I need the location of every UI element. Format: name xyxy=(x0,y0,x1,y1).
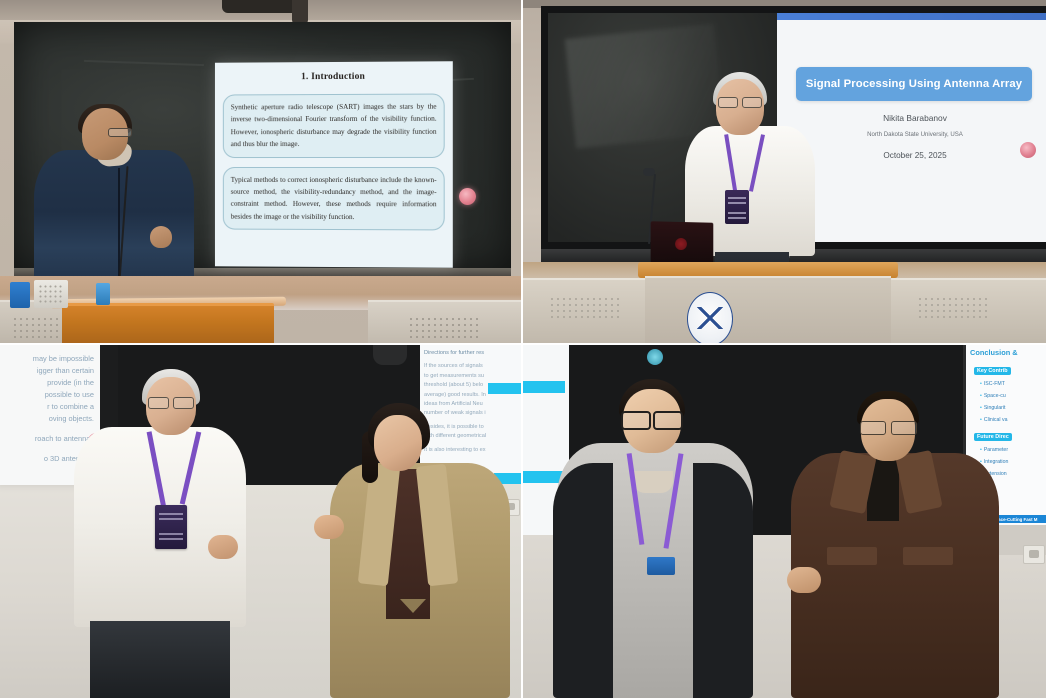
badge-line xyxy=(159,513,183,515)
woman-hand xyxy=(314,515,344,539)
recipient-trousers xyxy=(90,621,230,698)
slide-left-line: may be impossible xyxy=(0,353,94,365)
chalk-mark-2 xyxy=(84,60,204,66)
slide-date: October 25, 2025 xyxy=(777,151,1046,160)
recipient-hand xyxy=(208,535,238,559)
man-hand xyxy=(787,567,821,593)
badge-line xyxy=(159,538,183,540)
desk-speaker-grille-4 xyxy=(917,296,987,322)
slide-affiliation: North Dakota State University, USA xyxy=(777,131,1046,138)
photo-collage: 1. Introduction Synthetic aperture radio… xyxy=(0,0,1046,698)
conference-badge xyxy=(725,190,749,224)
front-desk-right xyxy=(368,300,521,343)
ceiling-fixture-2 xyxy=(292,0,308,24)
glasses-icon xyxy=(108,128,132,137)
indicator-light-icon-2 xyxy=(1020,142,1036,158)
student-author-figure xyxy=(555,379,755,698)
podium-front-panel xyxy=(645,276,891,343)
badge-line xyxy=(728,217,746,219)
slide-section-header-1: Key Contrib xyxy=(974,367,1011,375)
wall-socket-icon-4 xyxy=(1023,545,1045,564)
student-tee-neckline xyxy=(633,471,673,493)
laptop-logo-icon xyxy=(675,238,687,250)
speaker-hand xyxy=(150,226,172,248)
projected-slide-introduction: 1. Introduction Synthetic aperture radio… xyxy=(215,61,453,268)
glasses-icon-4 xyxy=(621,411,683,426)
glasses-icon-3 xyxy=(147,397,195,407)
slide-author: Nikita Barabanov xyxy=(777,113,1046,123)
laptop xyxy=(651,221,714,267)
slide-cyan-accent xyxy=(488,383,521,394)
display-logo-panel xyxy=(373,345,407,365)
glasses-icon-2 xyxy=(717,97,763,106)
front-desk-right-2 xyxy=(891,278,1046,343)
glasses-icon-5 xyxy=(860,421,917,433)
indicator-light-icon xyxy=(459,188,476,205)
jacket-pocket-left xyxy=(827,547,877,565)
conference-badge-3 xyxy=(647,557,675,575)
jacket-pocket-right xyxy=(903,547,953,565)
blue-box-object xyxy=(10,282,30,308)
badge-line xyxy=(159,533,183,535)
badge-line xyxy=(728,197,746,199)
desk-speaker-grille-3 xyxy=(549,296,619,322)
device-grille xyxy=(38,284,64,304)
slide-mid-line: to get measurements su xyxy=(424,372,521,381)
slide-bullet: ISC-FMT xyxy=(980,381,1005,387)
photo-panel-award-speaker: may be impossible igger than certain pro… xyxy=(0,345,521,698)
slide-mid-line: If the sources of signals xyxy=(424,362,521,371)
photo-panel-keynote-title: Signal Processing Using Antenna Array Ni… xyxy=(523,0,1046,343)
award-recipient-figure xyxy=(56,369,246,698)
front-desk-left-2 xyxy=(523,278,645,343)
display-indicator-icon xyxy=(647,349,663,365)
blue-box-object-2 xyxy=(96,283,110,305)
panel-divider-vertical xyxy=(521,0,523,698)
presenter-man-figure xyxy=(791,391,999,698)
slide-conclusion-heading: Conclusion & xyxy=(970,348,1018,357)
photo-panel-award-student: Conclusion & Key Contrib ISC-FMT Space-c… xyxy=(523,345,1046,698)
wooden-podium xyxy=(62,303,274,343)
white-device-object xyxy=(34,280,68,308)
desk-speaker-grille-2 xyxy=(408,316,482,340)
slide-top-bar xyxy=(777,13,1046,20)
university-emblem-icon xyxy=(687,292,733,343)
slide-heading: 1. Introduction xyxy=(223,71,445,82)
panel-divider-horizontal xyxy=(0,343,1046,345)
badge-line xyxy=(728,202,746,204)
slide-mid-heading: Directions for further res xyxy=(424,349,521,358)
student-black-vest xyxy=(553,463,753,698)
presenter-woman-figure xyxy=(330,403,510,698)
badge-line xyxy=(728,212,746,214)
slide-title: Signal Processing Using Antenna Array xyxy=(806,78,1022,90)
slide-paragraph-2: Typical methods to correct ionospheric d… xyxy=(223,166,445,230)
photo-panel-presentation-intro: 1. Introduction Synthetic aperture radio… xyxy=(0,0,521,343)
badge-line xyxy=(159,518,183,520)
conference-badge-2 xyxy=(155,505,187,549)
slide-paragraph-1: Synthetic aperture radio telescope (SART… xyxy=(223,94,445,158)
projected-title-slide: Signal Processing Using Antenna Array Ni… xyxy=(777,13,1046,242)
woman-head xyxy=(374,415,422,471)
slide-title-box: Signal Processing Using Antenna Array xyxy=(796,67,1032,101)
